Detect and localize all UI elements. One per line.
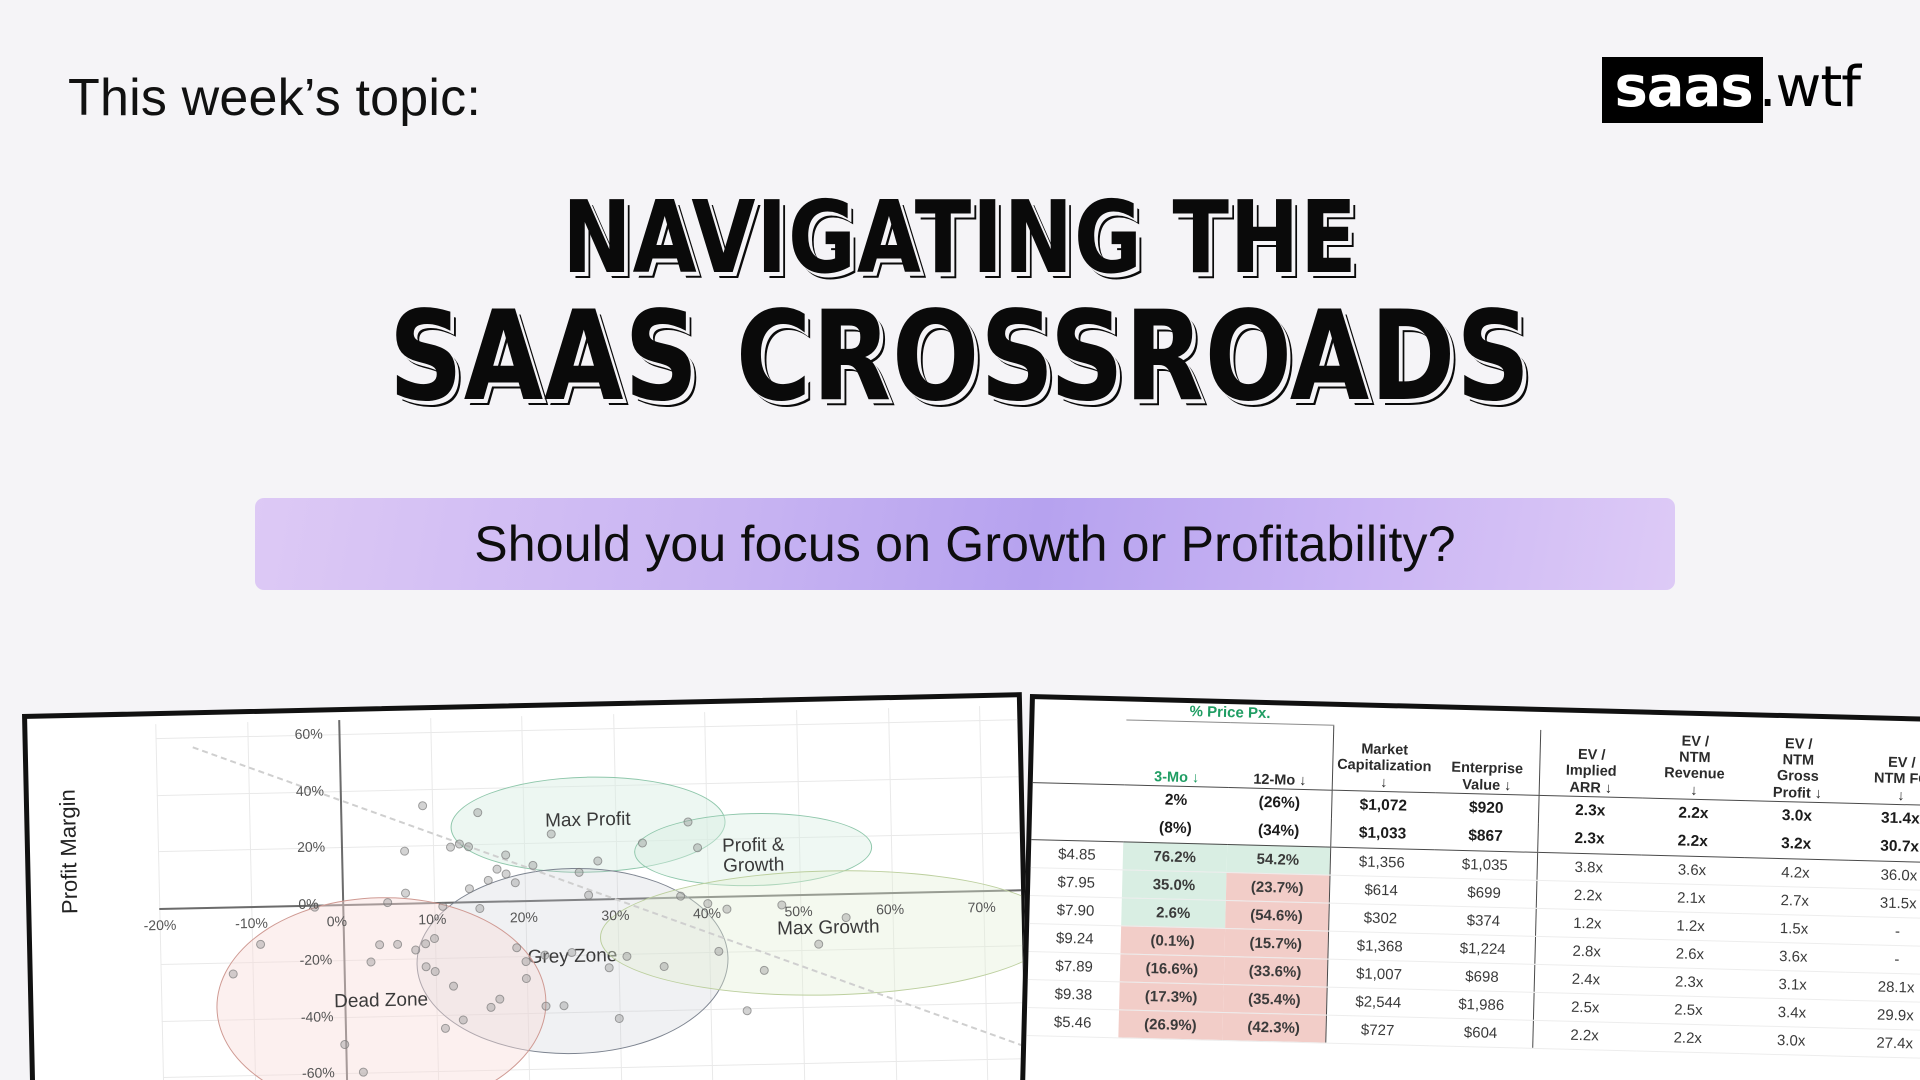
y-axis-tick: -40% [301,1008,334,1025]
cell-m3: (16.6%) [1120,954,1224,985]
cell-mcap: $2,544 [1326,987,1430,1018]
scatter-point [383,898,392,907]
cell-m3: (17.3%) [1119,982,1223,1013]
cell-price [1032,783,1125,814]
cell-fcf: - [1845,916,1920,947]
column-header-rev[interactable]: EV / NTM Revenue ↓ [1642,733,1747,801]
cell-rev: 2.3x [1637,967,1741,998]
cell-gp: 3.1x [1741,970,1845,1001]
cell-arr: 2.3x [1538,795,1642,826]
scatter-point [511,878,520,887]
grid-line-vertical [155,724,165,1080]
x-axis-tick: -20% [143,916,176,933]
logo-mark: saas [1602,57,1762,124]
x-axis-tick: 70% [967,899,995,916]
scatter-point [722,904,731,913]
cell-price: $4.85 [1031,840,1124,870]
scatter-point [421,939,430,948]
column-header-fcf[interactable]: EV / NTM FC ↓ [1849,738,1920,806]
scatter-point [676,891,685,900]
kicker-text: This week’s topic: [68,68,481,128]
cell-m3: 2.6% [1121,898,1225,929]
scatter-point [229,969,238,978]
cell-mcap: $1,072 [1331,790,1435,821]
y-axis-label: Profit Margin [55,789,84,914]
cell-gp: 1.5x [1742,914,1846,945]
cell-rev: 2.2x [1641,826,1745,857]
table-body: 2%(26%)$1,072$9202.3x2.2x3.0x31.4x(8%)(3… [1026,783,1920,1059]
cell-mcap: $1,356 [1330,847,1434,878]
scatter-point [541,1002,550,1011]
scatter-point [459,1015,468,1024]
saas-wtf-logo: saas .wtf [1602,56,1860,124]
cell-mcap: $302 [1328,903,1432,934]
subtitle-banner: Should you focus on Growth or Profitabil… [255,498,1675,590]
column-header-m12[interactable]: 12-Mo ↓ [1228,722,1333,790]
cell-ev: $699 [1432,878,1536,909]
column-header-gp[interactable]: EV / NTM Gross Profit ↓ [1746,735,1851,803]
cell-fcf: 36.0x [1847,860,1920,891]
cell-mcap: $727 [1325,1015,1429,1046]
scatter-point [475,904,484,913]
cell-fcf: 30.7x [1848,832,1920,863]
cell-fcf: - [1845,944,1920,975]
x-axis-tick: 0% [327,913,348,929]
cell-rev: 2.1x [1639,883,1743,914]
cell-price: $5.46 [1026,1007,1119,1037]
cell-ev: $867 [1434,821,1538,852]
title-line-1: NAVIGATING THE [77,192,1843,284]
cell-ev: $698 [1430,962,1534,993]
cell-mcap: $1,368 [1327,931,1431,962]
cell-gp: 3.0x [1745,801,1849,832]
cell-price: $9.38 [1027,979,1120,1009]
cell-arr: 2.5x [1533,992,1637,1023]
scatter-point [492,864,501,873]
cell-m12: (26%) [1227,787,1331,818]
cell-gp: 3.0x [1739,1026,1843,1057]
cell-price [1031,811,1124,842]
cell-price: $9.24 [1028,923,1121,953]
cell-mcap: $614 [1329,875,1433,906]
x-axis-tick: -10% [235,914,268,931]
cell-m12: (54.6%) [1225,900,1329,931]
cell-gp: 2.7x [1743,886,1847,917]
scatter-point [486,1003,495,1012]
cell-rev: 2.6x [1638,939,1742,970]
zone-label: Max Growth [748,917,908,941]
scatter-point [567,947,576,956]
scatter-point [449,981,458,990]
y-axis-tick: -20% [299,952,332,969]
cell-arr: 2.8x [1534,936,1638,967]
cell-m3: (26.9%) [1118,1010,1222,1041]
cell-m12: 54.2% [1226,844,1330,875]
y-axis-tick: 20% [297,839,325,856]
cell-fcf: 28.1x [1844,972,1920,1003]
cell-mcap: $1,007 [1327,959,1431,990]
scatter-point [446,843,455,852]
x-axis-tick: 20% [510,909,538,926]
cell-m12: (15.7%) [1224,928,1328,959]
scatter-point [418,801,427,810]
cell-m3: 76.2% [1123,842,1227,873]
cell-m12: (34%) [1227,816,1331,847]
cell-price: $7.95 [1030,868,1123,898]
scatter-chart-card: Profit Margin Max ProfitProfit & GrowthG… [22,692,1031,1080]
y-axis-tick: 0% [298,895,319,911]
cell-arr: 2.3x [1537,824,1641,855]
scatter-point [593,856,602,865]
cell-gp: 3.6x [1741,942,1845,973]
cell-gp: 4.2x [1743,858,1847,889]
scatter-point [546,829,555,838]
cell-m3: 2% [1124,785,1228,816]
cell-m12: (42.3%) [1222,1012,1326,1043]
scatter-point [495,994,504,1003]
scatter-point [401,889,410,898]
cell-ev: $1,224 [1431,934,1535,965]
cell-fcf: 31.4x [1848,803,1920,834]
valuation-table-card: % Price Px. 3-Mo ↓12-Mo ↓Market Capitali… [1019,694,1920,1080]
scatter-point [430,934,439,943]
cell-m3: 35.0% [1122,870,1226,901]
lower-collage: Profit Margin Max ProfitProfit & GrowthG… [0,680,1920,1080]
cell-rev: 2.5x [1636,995,1740,1026]
cell-price: $7.89 [1028,951,1121,981]
cell-fcf: 29.9x [1843,1000,1920,1031]
y-axis-tick: 40% [296,782,324,799]
column-header-ev[interactable]: Enterprise Value ↓ [1435,727,1540,795]
scatter-point [421,962,430,971]
cell-rev: 2.2x [1636,1023,1740,1054]
cell-m12: (33.6%) [1223,956,1327,987]
cell-ev: $1,986 [1429,990,1533,1021]
column-header-arr[interactable]: EV / Implied ARR ↓ [1539,730,1644,798]
cell-arr: 2.4x [1534,964,1638,995]
cell-arr: 1.2x [1535,908,1639,939]
cell-arr: 3.8x [1536,852,1640,883]
scatter-point [743,1006,752,1015]
cell-m3: (8%) [1123,813,1227,844]
cell-rev: 2.2x [1641,798,1745,829]
scatter-point [400,846,409,855]
cell-ev: $604 [1429,1018,1533,1049]
scatter-point [501,850,510,859]
subtitle-text: Should you focus on Growth or Profitabil… [474,515,1456,573]
cell-m12: (35.4%) [1223,984,1327,1015]
cell-arr: 2.2x [1532,1020,1636,1051]
scatter-point [441,1024,450,1033]
cell-ev: $1,035 [1433,850,1537,881]
cell-gp: 3.2x [1744,829,1848,860]
logo-tail: .wtf [1759,61,1860,120]
column-header-m3[interactable]: 3-Mo ↓ [1125,719,1230,787]
title-line-2: SAAS CROSSROADS [77,300,1843,414]
cell-rev: 3.6x [1640,855,1744,886]
scatter-point [366,958,375,967]
cell-ev: $374 [1432,906,1536,937]
cell-ev: $920 [1434,793,1538,824]
cell-rev: 1.2x [1638,911,1742,942]
scatter-point [483,876,492,885]
scatter-point [473,808,482,817]
valuation-table: % Price Px. 3-Mo ↓12-Mo ↓Market Capitali… [1026,699,1920,1059]
x-axis-tick: 40% [693,905,721,922]
cell-fcf: 31.5x [1846,888,1920,919]
cell-m12: (23.7%) [1225,872,1329,903]
x-axis-tick: 10% [418,911,446,928]
slide-canvas: This week’s topic: saas .wtf NAVIGATING … [0,0,1920,1080]
page-title: NAVIGATING THE SAAS CROSSROADS [0,192,1920,414]
cell-m3: (0.1%) [1120,926,1224,957]
cell-gp: 3.4x [1740,998,1844,1029]
cell-price: $7.90 [1029,895,1122,925]
x-axis-tick: 50% [784,903,812,920]
cell-mcap: $1,033 [1330,819,1434,850]
column-header-price[interactable] [1033,717,1127,784]
column-header-mcap[interactable]: Market Capitalization ↓ [1332,725,1437,793]
x-axis-tick: 30% [601,907,629,924]
x-axis-tick: 60% [876,901,904,918]
zone-label: Max Profit [508,809,668,833]
y-axis-tick: -60% [302,1065,335,1080]
cell-arr: 2.2x [1536,880,1640,911]
y-axis-tick: 60% [294,726,322,743]
cell-fcf: 27.4x [1843,1028,1920,1059]
scatter-plot-area: Max ProfitProfit & GrowthGrey ZoneDead Z… [155,705,1026,1080]
